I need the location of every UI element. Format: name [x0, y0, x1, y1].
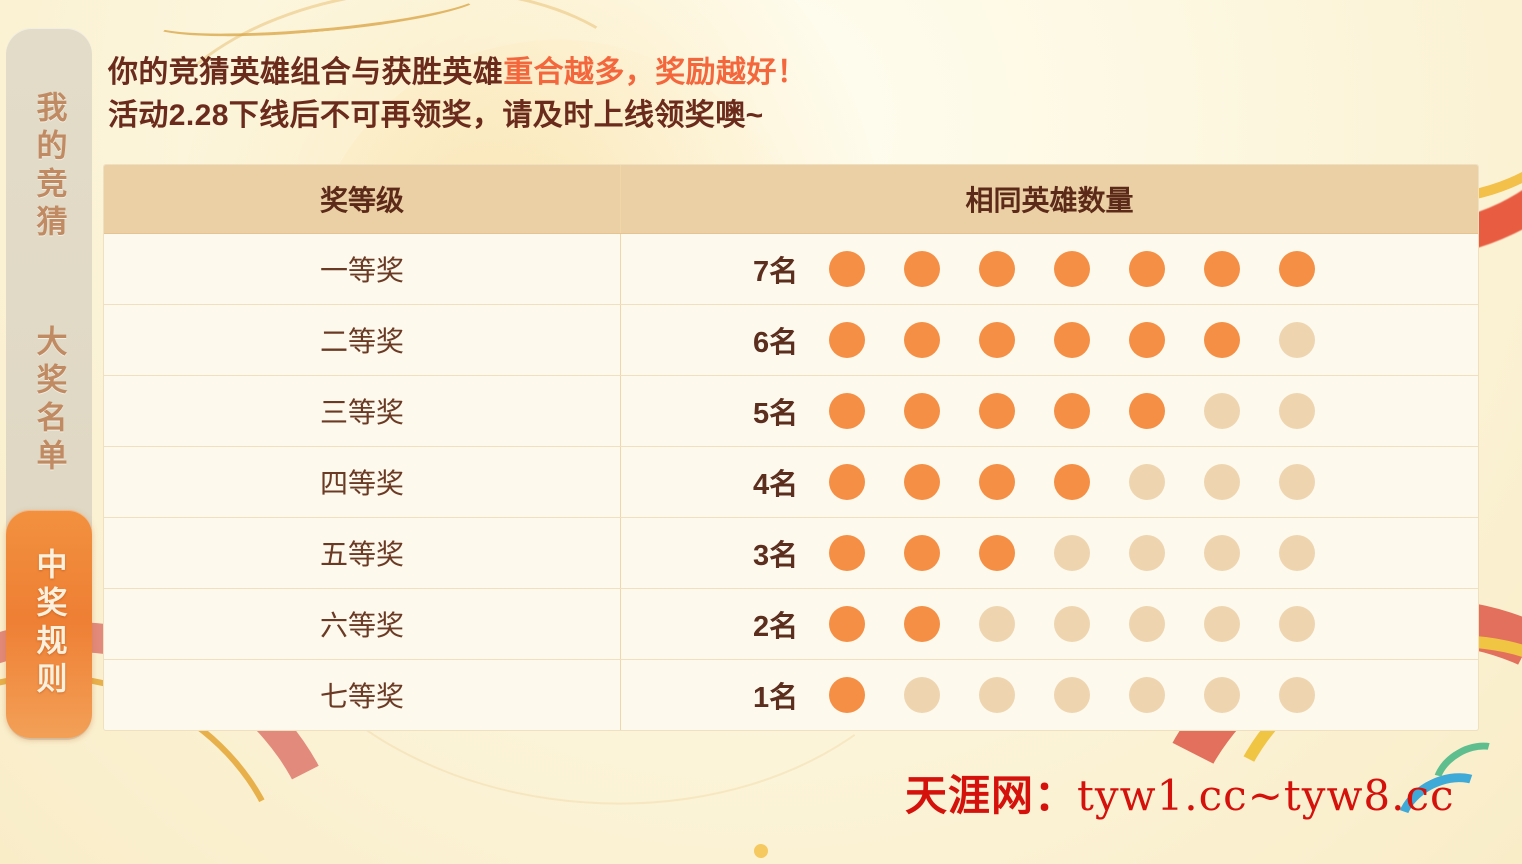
headline-line-1-accent: 重合越多，奖励越好！	[503, 56, 807, 89]
hero-count-label: 7名	[753, 248, 829, 290]
hero-dot-empty-icon	[1279, 393, 1315, 429]
hero-dot-filled-icon	[904, 464, 940, 500]
matching-heroes-cell: 1名	[621, 660, 1478, 730]
hero-count-label: 4名	[753, 461, 829, 503]
hero-dot-group	[829, 251, 1354, 287]
column-header-prize-level: 奖等级	[104, 165, 621, 233]
hero-dot-empty-icon	[1204, 393, 1240, 429]
hero-dot-filled-icon	[1054, 251, 1090, 287]
hero-dot-filled-icon	[829, 606, 865, 642]
watermark-url: tyw1.cc~tyw8.cc	[1077, 771, 1455, 820]
hero-dot-filled-icon	[904, 606, 940, 642]
headline-line-1-plain: 你的竞猜英雄组合与获胜英雄	[108, 56, 503, 89]
sidebar-item-prize-rules[interactable]: 中奖规则	[6, 510, 92, 738]
sidebar-item-winner-list[interactable]: 大奖名单	[6, 296, 92, 506]
prize-level-cell: 三等奖	[104, 376, 621, 446]
hero-dot-empty-icon	[1129, 606, 1165, 642]
prize-level-cell: 二等奖	[104, 305, 621, 375]
hero-count-label: 1名	[753, 674, 829, 716]
hero-dot-empty-icon	[1204, 464, 1240, 500]
hero-count-label: 5名	[753, 390, 829, 432]
table-row: 七等奖1名	[104, 660, 1478, 730]
table-row: 二等奖6名	[104, 305, 1478, 376]
hero-dot-filled-icon	[1279, 251, 1315, 287]
hero-dot-filled-icon	[904, 535, 940, 571]
sidebar-tabs: 我的竞猜 大奖名单 中奖规则	[6, 28, 92, 740]
hero-dot-filled-icon	[979, 393, 1015, 429]
prize-rules-table: 奖等级 相同英雄数量 一等奖7名二等奖6名三等奖5名四等奖4名五等奖3名六等奖2…	[103, 164, 1479, 731]
hero-dot-group	[829, 535, 1354, 571]
hero-dot-empty-icon	[1129, 535, 1165, 571]
hero-dot-empty-icon	[1279, 464, 1315, 500]
hero-dot-group	[829, 393, 1354, 429]
hero-dot-empty-icon	[1204, 606, 1240, 642]
hero-count-label: 6名	[753, 319, 829, 361]
table-body: 一等奖7名二等奖6名三等奖5名四等奖4名五等奖3名六等奖2名七等奖1名	[104, 234, 1478, 730]
hero-dot-filled-icon	[979, 535, 1015, 571]
hero-dot-empty-icon	[1279, 677, 1315, 713]
headline-line-1: 你的竞猜英雄组合与获胜英雄重合越多，奖励越好！	[108, 52, 1108, 95]
hero-dot-empty-icon	[1054, 677, 1090, 713]
table-row: 六等奖2名	[104, 589, 1478, 660]
hero-dot-filled-icon	[1129, 322, 1165, 358]
hero-dot-filled-icon	[1129, 251, 1165, 287]
prize-level-cell: 四等奖	[104, 447, 621, 517]
hero-dot-filled-icon	[1204, 251, 1240, 287]
hero-dot-filled-icon	[1129, 393, 1165, 429]
hero-count-label: 3名	[753, 532, 829, 574]
prize-level-cell: 五等奖	[104, 518, 621, 588]
hero-dot-filled-icon	[829, 464, 865, 500]
watermark: 天涯网：tyw1.cc~tyw8.cc	[905, 762, 1455, 823]
sidebar-item-my-guess[interactable]: 我的竞猜	[6, 62, 92, 272]
matching-heroes-cell: 2名	[621, 589, 1478, 659]
hero-dot-filled-icon	[829, 535, 865, 571]
watermark-site-name: 天涯网：	[905, 771, 1077, 820]
table-row: 一等奖7名	[104, 234, 1478, 305]
prize-level-cell: 七等奖	[104, 660, 621, 730]
hero-dot-filled-icon	[979, 464, 1015, 500]
hero-dot-group	[829, 464, 1354, 500]
matching-heroes-cell: 6名	[621, 305, 1478, 375]
hero-dot-filled-icon	[1054, 322, 1090, 358]
hero-dot-empty-icon	[1054, 606, 1090, 642]
hero-dot-filled-icon	[904, 393, 940, 429]
headline-text: 你的竞猜英雄组合与获胜英雄重合越多，奖励越好！ 活动2.28下线后不可再领奖，请…	[108, 52, 1108, 137]
column-header-matching-heroes: 相同英雄数量	[621, 165, 1478, 233]
hero-dot-empty-icon	[1204, 677, 1240, 713]
hero-dot-filled-icon	[904, 322, 940, 358]
hero-dot-filled-icon	[829, 251, 865, 287]
hero-dot-empty-icon	[1279, 535, 1315, 571]
hero-dot-filled-icon	[1054, 393, 1090, 429]
hero-dot-empty-icon	[1204, 535, 1240, 571]
matching-heroes-cell: 7名	[621, 234, 1478, 304]
hero-dot-filled-icon	[829, 677, 865, 713]
hero-dot-empty-icon	[1129, 464, 1165, 500]
hero-dot-empty-icon	[979, 677, 1015, 713]
matching-heroes-cell: 3名	[621, 518, 1478, 588]
bottom-center-dot-icon	[754, 844, 768, 858]
hero-dot-filled-icon	[979, 251, 1015, 287]
hero-dot-group	[829, 606, 1354, 642]
hero-dot-filled-icon	[829, 322, 865, 358]
hero-dot-filled-icon	[1054, 464, 1090, 500]
hero-dot-empty-icon	[1279, 606, 1315, 642]
headline-line-2: 活动2.28下线后不可再领奖，请及时上线领奖噢~	[108, 95, 1108, 138]
hero-dot-filled-icon	[904, 251, 940, 287]
table-row: 三等奖5名	[104, 376, 1478, 447]
hero-dot-filled-icon	[1204, 322, 1240, 358]
table-row: 五等奖3名	[104, 518, 1478, 589]
table-header-row: 奖等级 相同英雄数量	[104, 165, 1478, 234]
hero-dot-empty-icon	[979, 606, 1015, 642]
hero-dot-empty-icon	[1279, 322, 1315, 358]
hero-dot-filled-icon	[829, 393, 865, 429]
hero-dot-group	[829, 322, 1354, 358]
activity-rules-page: 我的竞猜 大奖名单 中奖规则 你的竞猜英雄组合与获胜英雄重合越多，奖励越好！ 活…	[0, 0, 1522, 864]
hero-dot-filled-icon	[979, 322, 1015, 358]
prize-level-cell: 一等奖	[104, 234, 621, 304]
matching-heroes-cell: 4名	[621, 447, 1478, 517]
hero-dot-empty-icon	[1129, 677, 1165, 713]
hero-dot-group	[829, 677, 1354, 713]
hero-count-label: 2名	[753, 603, 829, 645]
hero-dot-empty-icon	[904, 677, 940, 713]
prize-level-cell: 六等奖	[104, 589, 621, 659]
hero-dot-empty-icon	[1054, 535, 1090, 571]
table-row: 四等奖4名	[104, 447, 1478, 518]
matching-heroes-cell: 5名	[621, 376, 1478, 446]
